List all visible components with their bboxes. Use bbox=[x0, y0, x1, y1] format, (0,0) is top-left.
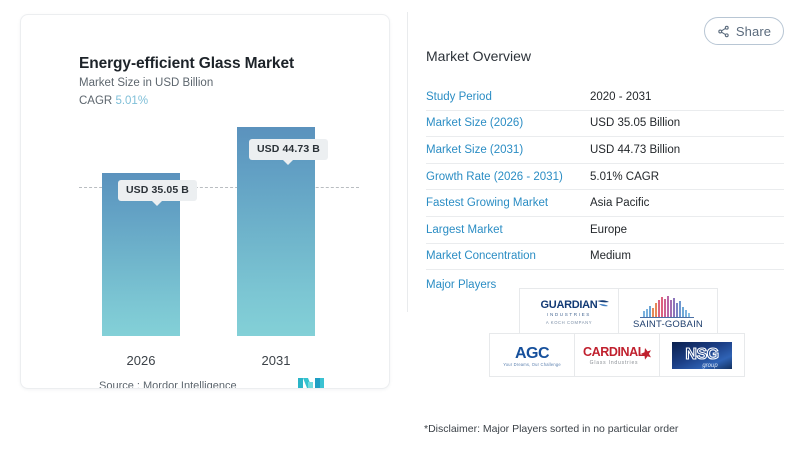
row-label: Study Period bbox=[426, 91, 590, 103]
market-overview-title: Market Overview bbox=[426, 48, 531, 64]
svg-text:Your Dreams, Our Challenge: Your Dreams, Our Challenge bbox=[503, 362, 561, 367]
logo-cardinal: CARDINAL Glass Industries bbox=[574, 333, 660, 377]
row-value: Europe bbox=[590, 224, 627, 236]
mordor-intelligence-logo bbox=[298, 377, 324, 389]
logo-nsg: NSG group bbox=[659, 333, 745, 377]
row-value: USD 44.73 Billion bbox=[590, 144, 680, 156]
table-row: Fastest Growing Market Asia Pacific bbox=[426, 190, 784, 217]
row-label: Market Size (2031) bbox=[426, 144, 590, 156]
row-value: USD 35.05 Billion bbox=[590, 117, 680, 129]
logo-guardian: GUARDIAN INDUSTRIES A KOCH COMPANY bbox=[519, 288, 619, 334]
table-row: Largest Market Europe bbox=[426, 217, 784, 244]
table-row: Market Size (2026) USD 35.05 Billion bbox=[426, 111, 784, 138]
table-row: Study Period 2020 - 2031 bbox=[426, 84, 784, 111]
svg-text:AGC: AGC bbox=[515, 345, 550, 362]
svg-text:CARDINAL: CARDINAL bbox=[583, 345, 646, 359]
table-row: Market Concentration Medium bbox=[426, 244, 784, 271]
disclaimer-text: *Disclaimer: Major Players sorted in no … bbox=[424, 423, 678, 435]
row-value: 2020 - 2031 bbox=[590, 91, 651, 103]
market-overview-table: Study Period 2020 - 2031 Market Size (20… bbox=[426, 84, 784, 300]
bar-chart-plot: USD 35.05 B USD 44.73 B 2026 2031 bbox=[21, 15, 390, 389]
svg-text:NSG: NSG bbox=[685, 346, 718, 363]
svg-text:A KOCH COMPANY: A KOCH COMPANY bbox=[546, 320, 592, 325]
logo-saint-gobain: SAINT-GOBAIN bbox=[618, 288, 718, 334]
row-value: Asia Pacific bbox=[590, 197, 649, 209]
panel-divider bbox=[407, 12, 408, 312]
share-nodes-icon bbox=[717, 25, 730, 38]
row-label: Market Size (2026) bbox=[426, 117, 590, 129]
bar-label-2031: USD 44.73 B bbox=[249, 139, 328, 160]
share-button-label: Share bbox=[736, 24, 771, 39]
svg-text:INDUSTRIES: INDUSTRIES bbox=[547, 312, 591, 317]
logo-agc: AGC Your Dreams, Our Challenge bbox=[489, 333, 575, 377]
x-axis-label-2026: 2026 bbox=[102, 353, 180, 368]
row-label: Growth Rate (2026 - 2031) bbox=[426, 171, 590, 183]
row-value: Medium bbox=[590, 250, 631, 262]
chart-card: Energy-efficient Glass Market Market Siz… bbox=[20, 14, 390, 389]
share-button[interactable]: Share bbox=[704, 17, 784, 45]
source-text: Source : Mordor Intelligence bbox=[99, 380, 237, 389]
row-label: Fastest Growing Market bbox=[426, 197, 590, 209]
market-summary-page: Share Energy-efficient Glass Market Mark… bbox=[0, 0, 800, 459]
svg-text:SAINT-GOBAIN: SAINT-GOBAIN bbox=[633, 319, 703, 330]
bar-label-2026: USD 35.05 B bbox=[118, 180, 197, 201]
x-axis-label-2031: 2031 bbox=[237, 353, 315, 368]
row-label: Largest Market bbox=[426, 224, 590, 236]
svg-text:Glass Industries: Glass Industries bbox=[590, 360, 639, 366]
svg-text:GUARDIAN: GUARDIAN bbox=[541, 299, 598, 311]
row-label: Market Concentration bbox=[426, 250, 590, 262]
svg-text:group: group bbox=[702, 363, 718, 369]
table-row: Growth Rate (2026 - 2031) 5.01% CAGR bbox=[426, 164, 784, 191]
table-row: Market Size (2031) USD 44.73 Billion bbox=[426, 137, 784, 164]
row-value: 5.01% CAGR bbox=[590, 171, 659, 183]
major-players-logos: GUARDIAN INDUSTRIES A KOCH COMPANY bbox=[519, 288, 747, 377]
